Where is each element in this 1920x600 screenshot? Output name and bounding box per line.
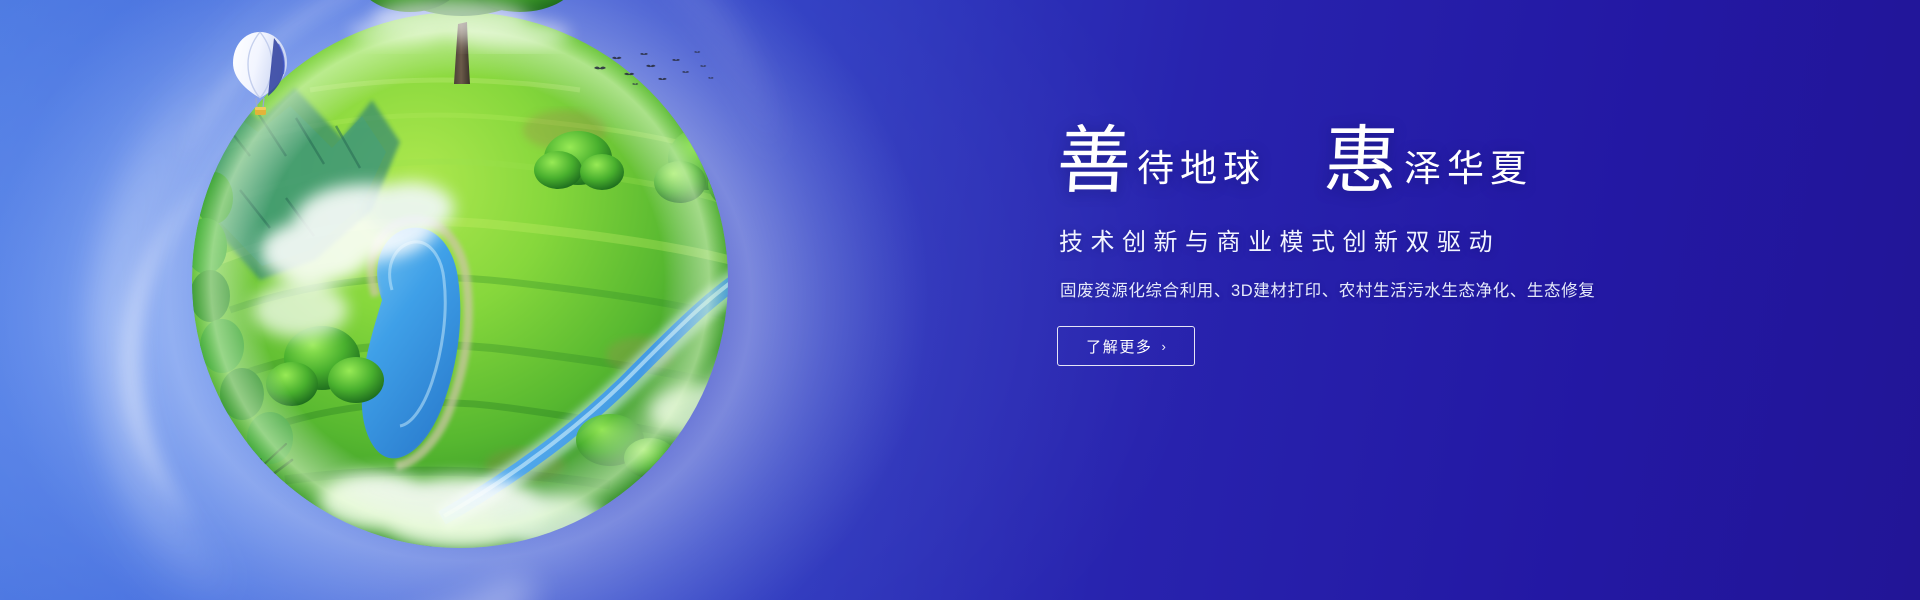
hot-air-balloon-icon — [228, 28, 292, 124]
headline-big-char-one: 善 — [1055, 128, 1139, 196]
page-subtitle: 技术创新与商业模式创新双驱动 — [1059, 222, 1817, 257]
headline-big-char-two: 惠 — [1322, 128, 1406, 196]
learn-more-button[interactable]: 了解更多 › — [1057, 326, 1195, 366]
page-description: 固废资源化综合利用、3D建材打印、农村生活污水生态净化、生态修复 — [1060, 277, 1817, 301]
hero-banner: 善 待地球 惠 泽华夏 技术创新与商业模式创新双驱动 固废资源化综合利用、3D建… — [0, 0, 1920, 600]
hero-content: 善 待地球 惠 泽华夏 技术创新与商业模式创新双驱动 固废资源化综合利用、3D建… — [1057, 128, 1817, 366]
headline-small-text-one: 待地球 — [1137, 151, 1266, 196]
learn-more-label: 了解更多 — [1086, 336, 1152, 357]
headline-group-two: 惠 泽华夏 — [1324, 128, 1533, 196]
chevron-right-icon: › — [1162, 339, 1166, 354]
headline-group-one: 善 待地球 — [1057, 128, 1266, 196]
birds-flock-icon — [588, 46, 718, 92]
headline-small-text-two: 泽华夏 — [1404, 151, 1533, 196]
page-title: 善 待地球 惠 泽华夏 — [1057, 128, 1817, 196]
